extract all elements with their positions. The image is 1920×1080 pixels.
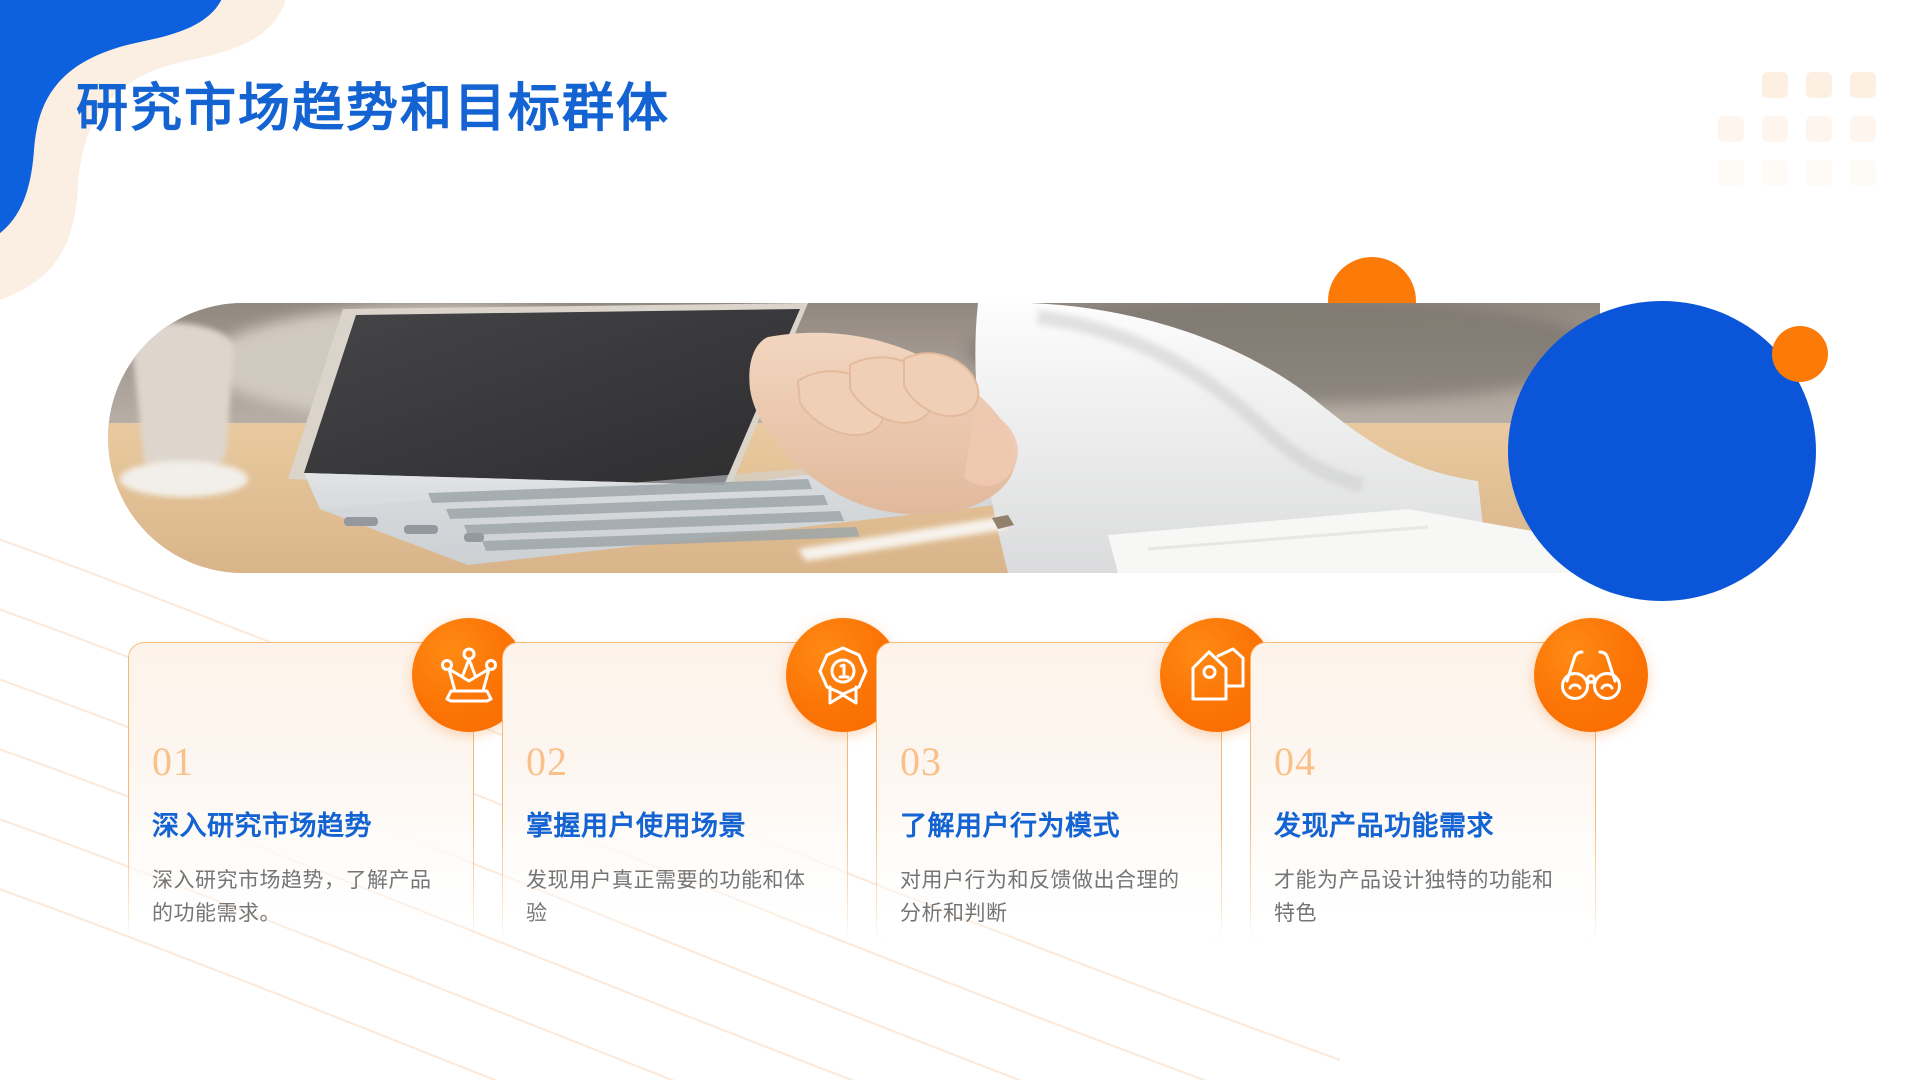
binoculars-icon xyxy=(1534,618,1648,732)
dot-cell xyxy=(1718,72,1744,98)
hero-image-container xyxy=(108,303,1600,573)
card-description: 发现用户真正需要的功能和体验 xyxy=(526,865,812,930)
card-title: 掌握用户使用场景 xyxy=(526,804,826,843)
feature-card[interactable]: 04 发现产品功能需求 才能为产品设计独特的功能和特色 xyxy=(1250,642,1594,1080)
card-content: 02 掌握用户使用场景 发现用户真正需要的功能和体验 xyxy=(526,742,826,930)
dot-cell xyxy=(1762,72,1788,98)
card-title: 发现产品功能需求 xyxy=(1274,804,1574,843)
card-number: 03 xyxy=(900,742,1200,782)
dot-cell xyxy=(1850,72,1876,98)
dot-cell xyxy=(1806,160,1832,186)
dot-cell xyxy=(1806,72,1832,98)
dot-cell xyxy=(1850,160,1876,186)
card-description: 深入研究市场趋势，了解产品的功能需求。 xyxy=(152,865,438,930)
dot-cell xyxy=(1718,116,1744,142)
dot-cell xyxy=(1850,116,1876,142)
dot-cell xyxy=(1762,160,1788,186)
card-content: 01 深入研究市场趋势 深入研究市场趋势，了解产品的功能需求。 xyxy=(152,742,452,930)
slide-canvas: 研究市场趋势和目标群体 xyxy=(0,0,1920,1080)
slide-title: 研究市场趋势和目标群体 xyxy=(76,66,670,141)
feature-card[interactable]: 02 掌握用户使用场景 发现用户真正需要的功能和体验 xyxy=(502,642,846,1080)
card-description: 对用户行为和反馈做出合理的分析和判断 xyxy=(900,865,1186,930)
card-number: 01 xyxy=(152,742,452,782)
card-title: 深入研究市场趋势 xyxy=(152,804,452,843)
hero-photo-art xyxy=(108,303,1600,573)
corner-blob-decoration xyxy=(0,0,410,320)
card-number: 04 xyxy=(1274,742,1574,782)
hero-photo xyxy=(108,303,1600,573)
card-number: 02 xyxy=(526,742,826,782)
dot-cell xyxy=(1762,116,1788,142)
blue-circle-decoration xyxy=(1508,301,1816,601)
dot-cell xyxy=(1718,160,1744,186)
feature-cards: 01 深入研究市场趋势 深入研究市场趋势，了解产品的功能需求。 02 xyxy=(128,642,1792,1080)
feature-card[interactable]: 03 了解用户行为模式 对用户行为和反馈做出合理的分析和判断 xyxy=(876,642,1220,1080)
card-title: 了解用户行为模式 xyxy=(900,804,1200,843)
card-content: 04 发现产品功能需求 才能为产品设计独特的功能和特色 xyxy=(1274,742,1574,930)
feature-card[interactable]: 01 深入研究市场趋势 深入研究市场趋势，了解产品的功能需求。 xyxy=(128,642,472,1080)
orange-circle-small-decoration xyxy=(1772,326,1828,382)
card-description: 才能为产品设计独特的功能和特色 xyxy=(1274,865,1560,930)
card-content: 03 了解用户行为模式 对用户行为和反馈做出合理的分析和判断 xyxy=(900,742,1200,930)
dot-cell xyxy=(1806,116,1832,142)
dot-grid-decoration xyxy=(1718,72,1876,186)
